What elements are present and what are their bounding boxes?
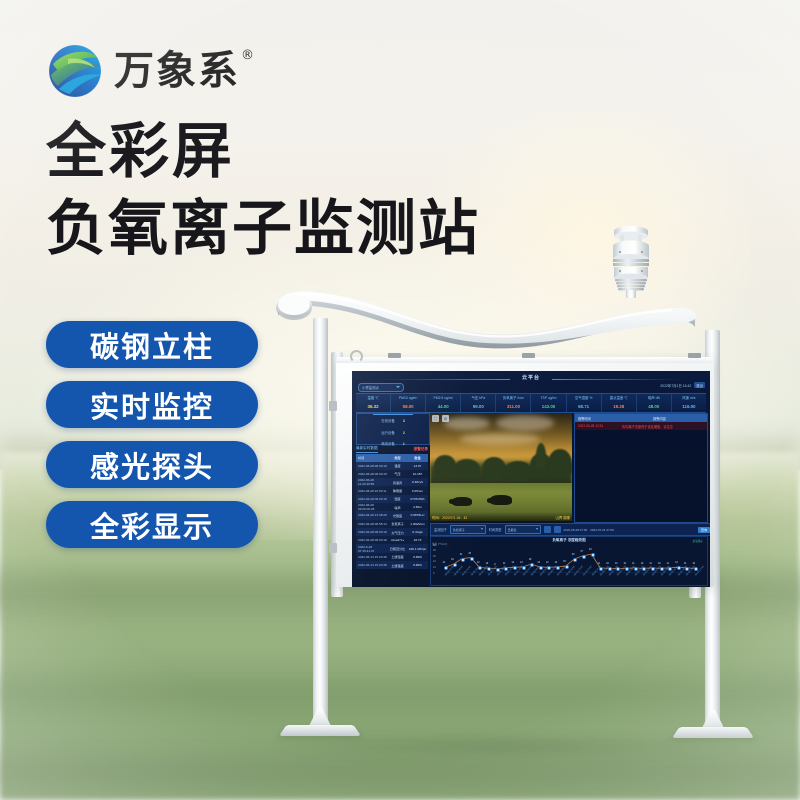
table-row[interactable]: 2022-06-28 08:00:18温度13.97 — [356, 462, 428, 470]
date-to[interactable]: 2022-07-01 07:00 — [590, 528, 614, 532]
metric-label: 噪声 dB — [637, 394, 671, 402]
chart-data-point — [453, 563, 457, 567]
chart-value-label: 11 — [684, 563, 686, 565]
cell-type: 降雨量 — [388, 488, 407, 493]
chart-value-label: 11 — [632, 563, 634, 565]
chart-y-tick: 36 — [433, 555, 436, 558]
chart-value-label: 13 — [537, 562, 540, 564]
chart-value-label: 12 — [511, 562, 514, 564]
chart-title: 负氧离子 浓度趋势图 — [431, 538, 707, 543]
chart-value-label: 10 — [486, 563, 489, 565]
metric-value: 116.00 — [672, 402, 706, 411]
metric-cell: 负氧离子 /cm³ 311.00 — [496, 394, 531, 412]
stats-accent-bar — [373, 414, 413, 415]
alarm-panel[interactable]: 报警时间 报警内容 2022-06-28 12:31 负氧离子浓度低于设定阈值，… — [574, 413, 708, 523]
alarm-time: 2022-06-28 12:31 — [575, 424, 622, 428]
video-toolbar[interactable]: ⛶ ◎ — [432, 415, 449, 422]
video-cow-head — [487, 498, 494, 503]
chart-value-label: 10 — [624, 563, 627, 565]
chart-value-label: 31 — [460, 554, 463, 556]
metric-value: 143.00 — [531, 402, 565, 411]
cell-type: 大气压力 — [388, 530, 407, 535]
video-tree — [548, 449, 572, 479]
chart-value-label: 30 — [572, 554, 575, 556]
chart-value-label: 11 — [667, 563, 669, 565]
video-tree — [536, 443, 546, 469]
table-section-title: 最新实时数据 — [356, 446, 378, 453]
station-select[interactable]: 小界监测点 — [358, 383, 404, 392]
column-header-type: 类型 — [388, 455, 407, 460]
cell-time: 2022-06-28 09:00:06:28 — [356, 503, 388, 511]
camera-video-feed[interactable]: ⛶ ◎ 时间：2022/7/1 16：42 山界 摄像 — [430, 413, 572, 521]
cell-value: 13.97 — [407, 464, 428, 468]
metric-cell: 温度 ℃ 36.32 — [356, 394, 391, 412]
cabinet-hinge-top — [329, 401, 337, 411]
chart-data-point — [651, 567, 655, 571]
metric-value: 18.38 — [602, 402, 636, 411]
chart-data-point — [660, 567, 664, 571]
chart-value-label: 19 — [529, 559, 532, 561]
product-marketing-image: 万象系 ® 全彩屏 负氧离子监测站 碳钢立柱 实时监控 感光探头 全彩显示 — [0, 0, 800, 800]
metric-cell: 气压 kPa 99.00 — [461, 394, 496, 412]
table-row[interactable]: 2022-06-28 13:38:28光照度0.0878Lx² — [356, 511, 428, 519]
cell-time: 2022-06-28 08:00:18 — [356, 497, 388, 501]
table-header-row: 时间 类型 数值 — [356, 454, 428, 462]
date-from[interactable]: 2022-06-28 07:00 — [564, 528, 588, 532]
cell-type: 日照百分比 — [388, 546, 407, 551]
table-row[interactable]: 2022-06-28 08:00:18cdsa37Lv18.73 — [356, 536, 428, 544]
metric-cell: 露点温度 ℃ 18.38 — [602, 394, 637, 412]
chart-y-tick: 12 — [433, 566, 436, 569]
cabinet-hook-left — [350, 350, 363, 363]
chart-data-point — [461, 558, 465, 562]
chart-value-label: 15 — [563, 561, 566, 563]
cell-time: 2022-06-28 08:00:18 — [356, 464, 388, 468]
chart-data-point — [591, 553, 595, 557]
cell-time: 2022-06-28 08:00:18 — [356, 530, 388, 534]
user-info: 2022年7月1日 16:42 退出 — [660, 382, 705, 388]
metric-label: PM2.5 ug/m³ — [426, 394, 460, 402]
chart-value-label: 11 — [649, 563, 651, 565]
ultrasonic-weather-sensor-icon — [600, 222, 662, 294]
cell-type: 负氧离子 — [388, 521, 407, 526]
video-location-label: 山界 摄像 — [555, 515, 570, 520]
metric-label: 负氧离子 /cm³ — [496, 394, 530, 402]
metric-cell: PM2.5 ug/m³ 44.00 — [426, 394, 461, 412]
alarm-records-link[interactable]: 报警记录 — [414, 447, 428, 452]
video-timestamp: 时间：2022/7/1 16：42 — [432, 515, 467, 520]
stat-value: 2 — [403, 430, 405, 438]
chart-value-label: 12 — [675, 562, 678, 564]
video-tree — [434, 455, 456, 477]
cell-time: 2022-06-28 08:00:18 — [356, 538, 388, 542]
chart-value-label: 37 — [580, 551, 583, 553]
chart-value-label: 13 — [520, 562, 523, 564]
video-tree — [454, 459, 480, 479]
chevron-down-icon — [396, 386, 400, 388]
fullscreen-icon[interactable]: ⛶ — [432, 415, 439, 422]
cell-type: 气压 — [388, 471, 407, 476]
stat-value: 3 — [403, 418, 405, 426]
chart-value-label: 10 — [615, 563, 618, 565]
cell-type: cdsa37Lv — [388, 538, 407, 542]
base-plate — [672, 727, 754, 738]
chart-plot-area: 1206-28 07:001906-28 09:003106-28 11:003… — [445, 545, 695, 573]
metric-value: 44.00 — [426, 402, 460, 411]
ground-shadow — [270, 735, 740, 757]
support-post-left — [313, 318, 328, 724]
cell-value: 0.69% — [407, 555, 428, 559]
data-table[interactable]: 时间 类型 数值 2022-06-28 08:00:18温度13.972022-… — [356, 454, 428, 569]
chart-control-bar[interactable]: 监测因子 负氧离子 时间类型 日报表 2022-06-28 07:00 2022… — [430, 523, 710, 536]
cabinet-latch-3 — [688, 353, 701, 358]
cell-value: 10.187 — [407, 472, 428, 476]
cell-type: 噪声 — [388, 505, 407, 510]
cell-time: 2022-06-28 08:00:18 — [356, 472, 388, 476]
chart-value-label: 13 — [555, 562, 558, 564]
metric-cell: 空气湿度 % 68.71 — [567, 394, 602, 412]
factor-label: 监测因子 — [434, 527, 447, 532]
chart-data-point — [522, 566, 526, 570]
chart-y-tick: 60 — [433, 544, 436, 547]
video-tree — [504, 461, 532, 481]
metric-cell: TSP ug/m³ 143.00 — [531, 394, 566, 412]
chart-value-label: 12 — [477, 562, 480, 564]
chart-data-point — [470, 557, 474, 561]
monitoring-station: 云平台 小界监测点 2022年7月1日 16:42 退出 温度 ℃ 36.32 … — [0, 0, 800, 800]
table-row[interactable]: 2022-05-13 15:20:38土壤湿度0.69% — [356, 553, 428, 561]
stat-label: 在线设备 — [381, 418, 395, 426]
table-row[interactable]: 2022-05-13 15:20:38土壤温度0.69% — [356, 561, 428, 569]
left-panel: 在线设备 3 运行设备 2 离线设备 1 最新实时数据 报警记录 — [356, 413, 428, 583]
cabinet-hinge-bottom — [329, 543, 337, 553]
alarm-header-row: 报警时间 报警内容 — [575, 414, 707, 422]
table-row[interactable]: 2022-06-28 08:00:18湿度0735.06% — [356, 495, 428, 503]
period-select[interactable]: 日报表 — [505, 525, 541, 534]
metric-label: 气压 kPa — [461, 394, 495, 402]
stat-row: 在线设备 3 — [357, 418, 429, 426]
chart-value-label: 12 — [443, 562, 446, 564]
cell-time: 2022-06-28 10:50:11 — [356, 489, 388, 493]
period-select-value: 日报表 — [508, 528, 517, 532]
query-button[interactable]: 查询 — [698, 527, 710, 533]
metric-label: TSP ug/m³ — [531, 394, 565, 402]
stat-row: 运行设备 2 — [357, 430, 429, 438]
column-header-time: 时间 — [356, 455, 388, 460]
chart-data-point — [556, 566, 560, 570]
chart-value-label: 12 — [546, 562, 549, 564]
factor-select-value: 负氧离子 — [453, 528, 465, 532]
cell-time: 2022-05-13 15:20:38 — [356, 563, 388, 567]
table-row[interactable]: 2022-6-28 07:15:41:47日照百分比168.1 MK/pn — [356, 544, 428, 552]
cell-value: 168.1 MK/pn — [407, 547, 428, 551]
metric-cell: PM10 ug/m³ 58.00 — [391, 394, 426, 412]
trend-chart: 负氧离子 浓度趋势图 浓度 (个/cm³) 负氧离子 1206-28 07:00… — [430, 536, 708, 586]
alarm-column-content: 报警内容 — [612, 416, 707, 421]
metric-value: 58.00 — [391, 402, 425, 411]
chart-value-label: 11 — [598, 563, 600, 565]
cabinet-latch-2 — [522, 353, 535, 358]
chevron-down-icon — [536, 528, 538, 530]
cell-type: 光照度 — [388, 513, 407, 518]
metric-value: 99.00 — [461, 402, 495, 411]
chart-value-label: 33 — [468, 553, 471, 555]
chart-value-label: 9 — [494, 564, 495, 566]
metrics-strip: 温度 ℃ 36.32 PM10 ug/m³ 58.00 PM2.5 ug/m³ … — [356, 393, 706, 413]
chart-y-tick: 48 — [433, 549, 436, 552]
led-display-screen: 云平台 小界监测点 2022年7月1日 16:42 退出 温度 ℃ 36.32 … — [352, 371, 710, 587]
chevron-down-icon — [481, 528, 483, 530]
chart-data-point — [565, 565, 569, 569]
cell-value: 0.69% — [407, 563, 428, 567]
chart-value-label: 10 — [693, 563, 696, 565]
cell-type: 土壤温度 — [388, 563, 407, 568]
cell-type: 风速风 — [388, 480, 407, 485]
column-header-value: 数值 — [407, 455, 428, 460]
table-row[interactable]: 2022-06-28 10:50:11降雨量0.05mm — [356, 486, 428, 494]
table-row[interactable]: 2022-06-28 08:58:13负氧离子1.00a5/cm — [356, 520, 428, 528]
cell-value: 18.73 — [407, 538, 428, 542]
table-row[interactable]: 2022-06-28 08:00:18气压10.187 — [356, 470, 428, 478]
metric-value: 68.71 — [567, 402, 601, 411]
video-cloud — [496, 415, 554, 431]
cell-value: 0.05mm — [407, 489, 428, 493]
cell-time: 2022-06-28 08:58:13 — [356, 522, 388, 526]
data-table-header-bar: 最新实时数据 报警记录 — [356, 446, 428, 453]
cell-type: 温度 — [388, 463, 407, 468]
cell-time: 2022-06-28 13:38:28 — [356, 513, 388, 517]
chart-value-label: 19 — [451, 559, 454, 561]
cell-value: 0.48m/s — [407, 480, 428, 484]
metric-value: 48.00 — [637, 402, 671, 411]
snapshot-icon[interactable]: ◎ — [442, 415, 449, 422]
device-stats-box: 在线设备 3 运行设备 2 离线设备 1 — [356, 413, 430, 445]
factor-select[interactable]: 负氧离子 — [450, 525, 486, 534]
metric-value: 311.00 — [496, 402, 530, 411]
table-row[interactable]: 2022-06-28 09:00:06:28噪声2.66m — [356, 503, 428, 511]
metric-label: 空气湿度 % — [567, 394, 601, 402]
cell-time: 2022-6-28 07:15:41:47 — [356, 545, 388, 553]
alarm-column-time: 报警时间 — [575, 416, 612, 421]
cell-value: 0.0878Lx² — [407, 513, 428, 517]
video-cow-head — [449, 499, 456, 504]
alarm-row[interactable]: 2022-06-28 12:31 负氧离子浓度低于设定阈值，请注意 — [575, 422, 707, 430]
alarm-content: 负氧离子浓度低于设定阈值，请注意 — [622, 424, 707, 429]
metric-label: 露点温度 ℃ — [602, 394, 636, 402]
dashboard-title: 云平台 — [352, 374, 710, 381]
period-label: 时间类型 — [489, 527, 502, 532]
metric-cell: 噪声 dB 48.00 — [637, 394, 672, 412]
chart-data-point — [634, 567, 638, 571]
chart-data-point — [539, 566, 543, 570]
cell-type: 土壤湿度 — [388, 554, 407, 559]
cell-value: 2.66m — [407, 505, 428, 509]
metric-cell: 风速 m/s 116.00 — [672, 394, 706, 412]
table-view-icon[interactable] — [544, 526, 551, 533]
cell-value: 0735.06% — [407, 497, 428, 501]
logout-button[interactable]: 退出 — [694, 382, 705, 388]
chart-legend: 负氧离子 — [693, 539, 703, 543]
chart-value-label: 11 — [503, 563, 505, 565]
chart-data-point — [582, 555, 586, 559]
station-select-value: 小界监测点 — [362, 385, 379, 390]
chart-y-tick: 0 — [433, 572, 434, 575]
metric-label: 温度 ℃ — [356, 394, 390, 402]
chart-value-label: 10 — [641, 563, 644, 565]
cell-time: 2022-05-13 15:20:38 — [356, 555, 388, 559]
table-row[interactable]: 2022-06-28 11:10:40:58风速风0.48m/s — [356, 478, 428, 486]
video-cloud — [444, 417, 490, 430]
chart-value-label: 10 — [606, 563, 609, 565]
chart-view-icon[interactable] — [554, 526, 561, 533]
metric-label: 风速 m/s — [672, 394, 706, 402]
metric-label: PM10 ug/m³ — [391, 394, 425, 402]
cell-value: 1.00a5/cm — [407, 522, 428, 526]
chart-value-label: 10 — [658, 563, 661, 565]
cell-type: 湿度 — [388, 496, 407, 501]
chart-y-tick: 24 — [433, 560, 436, 563]
table-row[interactable]: 2022-06-28 08:00:18大气压力0.4mgk — [356, 528, 428, 536]
video-cloud — [460, 433, 540, 445]
stat-label: 运行设备 — [381, 430, 395, 438]
video-tree — [482, 457, 506, 481]
cabinet-latch-1 — [388, 353, 401, 358]
base-plate — [279, 725, 361, 736]
current-datetime: 2022年7月1日 16:42 — [660, 383, 691, 388]
cell-time: 2022-06-28 11:10:40:58 — [356, 478, 388, 486]
metric-value: 36.32 — [356, 402, 390, 411]
cell-value: 0.4mgk — [407, 530, 428, 534]
chart-value-label: 40 — [589, 549, 592, 551]
